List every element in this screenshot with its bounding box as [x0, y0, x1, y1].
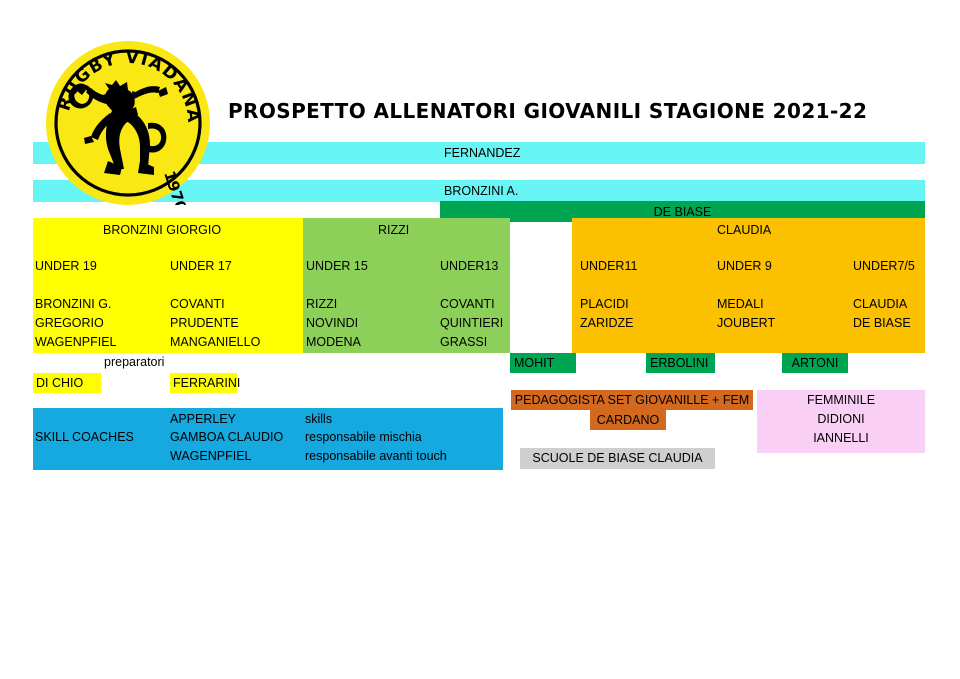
rugby-viadana-logo: RUGBY VIADANA 1970 — [46, 41, 210, 205]
group-claudia-coach: CLAUDIA — [717, 223, 771, 237]
column-header-under-7-5: UNDER7/5 — [853, 259, 915, 273]
staff-name: QUINTIERI — [440, 316, 503, 330]
staff-name: CLAUDIA — [853, 297, 907, 311]
group-bronzini-giorgio-coach: BRONZINI GIORGIO — [103, 223, 221, 237]
staff-name: COVANTI — [440, 297, 495, 311]
staff-name: PRUDENTE — [170, 316, 239, 330]
staff-name: MANGANIELLO — [170, 335, 260, 349]
staff-name: MEDALI — [717, 297, 764, 311]
group-claudia: CLAUDIA UNDER11 UNDER 9 UNDER7/5 PLACIDI… — [572, 218, 925, 353]
skill-coach-name: APPERLEY — [170, 412, 236, 426]
column-header-under-17: UNDER 17 — [170, 259, 232, 273]
femminile-title: FEMMINILE — [757, 393, 925, 407]
band-fernandez-label: FERNANDEZ — [444, 146, 520, 160]
column-header-under-9: UNDER 9 — [717, 259, 772, 273]
column-header-under-19: UNDER 19 — [35, 259, 97, 273]
staff-name: BRONZINI G. — [35, 297, 111, 311]
femminile-staff-name: IANNELLI — [757, 431, 925, 445]
staff-name: MODENA — [306, 335, 361, 349]
staff-name: PLACIDI — [580, 297, 629, 311]
pedagogista-name: CARDANO — [590, 410, 666, 430]
staff-name: COVANTI — [170, 297, 225, 311]
skill-coach-name: GAMBOA CLAUDIO — [170, 430, 283, 444]
skill-coaches-title: SKILL COACHES — [35, 430, 134, 444]
preparatore-badge-erbolini: ERBOLINI — [646, 353, 715, 373]
skill-coach-name: WAGENPFIEL — [170, 449, 252, 463]
staff-name: NOVINDI — [306, 316, 358, 330]
staff-name: GREGORIO — [35, 316, 104, 330]
group-rizzi: RIZZI UNDER 15 UNDER13 RIZZI NOVINDI MOD… — [303, 218, 510, 353]
preparatori-label-wrap: preparatori — [104, 355, 224, 373]
staff-name: JOUBERT — [717, 316, 775, 330]
staff-name: ZARIDZE — [580, 316, 633, 330]
column-header-under-11: UNDER11 — [580, 259, 637, 273]
femminile-block: FEMMINILE DIDIONI IANNELLI — [757, 390, 925, 453]
page-title: PROSPETTO ALLENATORI GIOVANILI STAGIONE … — [228, 99, 867, 123]
staff-name: DE BIASE — [853, 316, 911, 330]
skill-coaches-block: SKILL COACHES APPERLEY GAMBOA CLAUDIO WA… — [33, 408, 503, 470]
staff-name: WAGENPFIEL — [35, 335, 117, 349]
column-header-under-13: UNDER13 — [440, 259, 498, 273]
preparatore-badge-mohit: MOHIT — [510, 353, 576, 373]
band-bronzini-a-label: BRONZINI A. — [444, 184, 518, 198]
pedagogista-header: PEDAGOGISTA SET GIOVANILLE + FEM — [511, 390, 753, 410]
prospetto-sheet: FERNANDEZ BRONZINI A. DE BIASE BRONZINI … — [0, 0, 960, 679]
skill-coach-role: responsabile mischia — [305, 430, 422, 444]
scuole-badge: SCUOLE DE BIASE CLAUDIA — [520, 448, 715, 469]
group-bronzini-giorgio: BRONZINI GIORGIO UNDER 19 UNDER 17 BRONZ… — [33, 218, 303, 353]
skill-coach-role: responsabile avanti touch — [305, 449, 447, 463]
group-rizzi-coach: RIZZI — [378, 223, 409, 237]
preparatore-badge-di-chio: DI CHIO — [33, 373, 101, 393]
preparatore-badge-artoni: ARTONI — [782, 353, 848, 373]
band-de-biase-label: DE BIASE — [440, 205, 925, 219]
preparatori-label: preparatori — [104, 355, 164, 369]
column-header-under-15: UNDER 15 — [306, 259, 368, 273]
staff-name: GRASSI — [440, 335, 487, 349]
preparatore-badge-ferrarini: FERRARINI — [170, 373, 237, 393]
skill-coach-role: skills — [305, 412, 332, 426]
femminile-staff-name: DIDIONI — [757, 412, 925, 426]
staff-name: RIZZI — [306, 297, 337, 311]
